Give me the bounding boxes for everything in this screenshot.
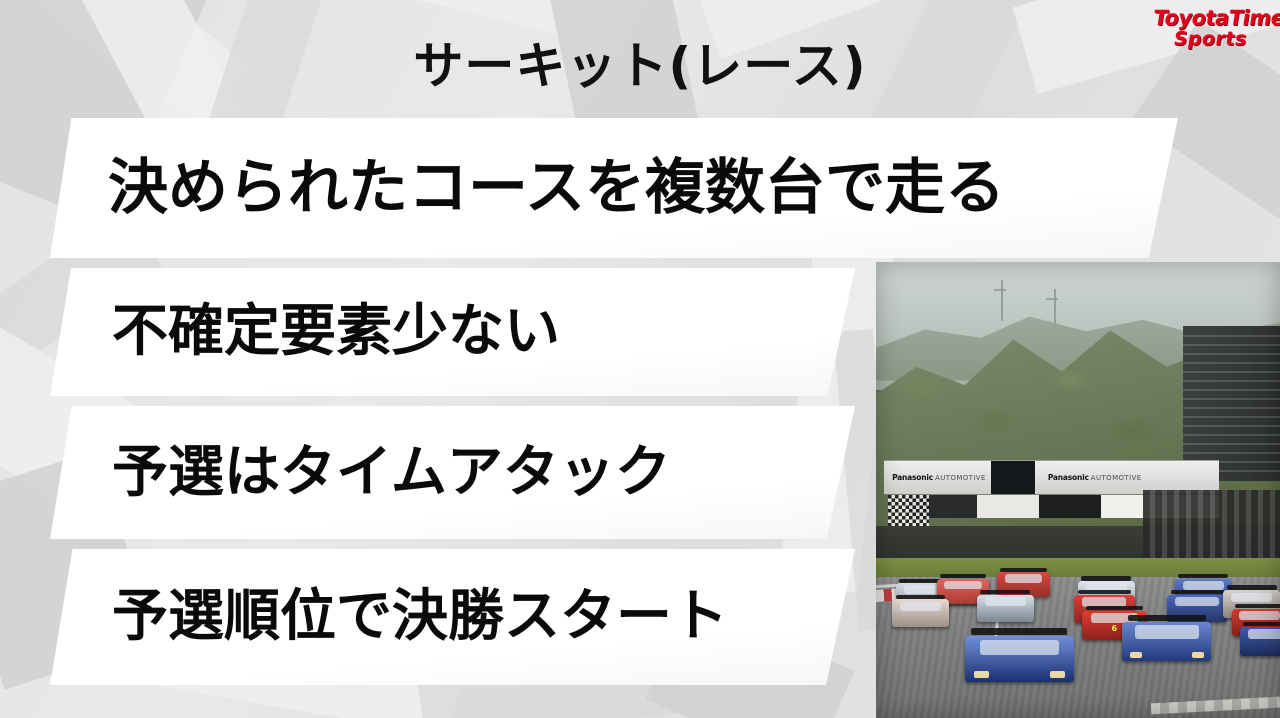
car-rear-wing	[940, 574, 986, 578]
race-car	[892, 599, 949, 626]
photo-sign-dark-panel	[991, 461, 1035, 494]
car-rear-wing	[1000, 568, 1046, 572]
car-headlight	[1192, 652, 1204, 658]
car-headlight	[974, 671, 989, 678]
photo-sign-panasonic-1: PanasonicAUTOMOTIVE	[892, 473, 986, 482]
photo-pylon-icon	[1001, 280, 1003, 321]
page-title: サーキット(レース)	[0, 26, 1280, 98]
photo-pylon-crossbar	[1046, 298, 1058, 300]
statement-banner-2: 不確定要素少ない	[50, 268, 855, 396]
car-windscreen	[900, 602, 941, 611]
car-headlight	[1130, 652, 1142, 658]
car-rear-wing	[896, 595, 946, 599]
car-rear-wing	[1171, 590, 1224, 594]
car-windscreen	[1135, 625, 1199, 638]
car-windscreen	[944, 581, 982, 590]
race-car-leader-1	[965, 636, 1074, 682]
car-rear-wing	[1243, 622, 1280, 627]
statement-banner-4-text: 予選順位で決勝スタート	[112, 589, 728, 645]
car-headlight	[1050, 671, 1065, 678]
photo-sign-block	[1039, 495, 1101, 519]
car-windscreen	[985, 597, 1026, 606]
car-rear-wing	[1227, 585, 1277, 589]
car-windscreen	[1175, 597, 1219, 606]
race-car	[1240, 627, 1280, 656]
car-windscreen	[1005, 574, 1043, 583]
slide-root: ToyotaTimes Sports サーキット(レース) 決められたコースを複…	[0, 0, 1280, 718]
photo-sign-panasonic-2: PanasonicAUTOMOTIVE	[1048, 473, 1142, 482]
car-windscreen	[980, 640, 1059, 656]
car-rear-wing	[980, 590, 1030, 594]
car-rear-wing	[1235, 604, 1280, 608]
car-windscreen	[1239, 611, 1280, 620]
photo-sign-panasonic-2-sub: AUTOMOTIVE	[1091, 474, 1142, 482]
car-windscreen	[904, 585, 942, 594]
statement-banner-1: 決められたコースを複数台で走る	[50, 118, 1178, 258]
photo-sign-block	[977, 495, 1039, 519]
statement-banner-1-text: 決められたコースを複数台で走る	[108, 158, 1005, 218]
statement-banner-4: 予選順位で決勝スタート	[50, 549, 855, 685]
photo-pylon-crossbar	[994, 289, 1006, 291]
statement-banner-3-text: 予選はタイムアタック	[112, 445, 671, 501]
statement-banner-3: 予選はタイムアタック	[50, 406, 855, 539]
car-rear-wing	[971, 628, 1067, 635]
car-rear-wing	[1078, 590, 1131, 595]
car-windscreen	[1231, 593, 1272, 602]
car-rear-wing	[1178, 574, 1228, 578]
car-rear-wing	[1128, 615, 1206, 621]
super-gt-race-start-photo: PanasonicAUTOMOTIVE PanasonicAUTOMOTIVE	[876, 262, 1280, 718]
car-windscreen	[1248, 629, 1280, 639]
car-rear-wing	[1086, 606, 1143, 611]
photo-grandstand-seat-rows	[1183, 335, 1280, 472]
photo-sign-panasonic-1-sub: AUTOMOTIVE	[935, 474, 986, 482]
car-windscreen	[1183, 581, 1224, 590]
race-car-leader-2	[1122, 622, 1211, 661]
car-rear-wing	[1081, 576, 1131, 580]
race-car	[977, 595, 1034, 622]
statement-banner-2-text: 不確定要素少ない	[112, 304, 560, 360]
